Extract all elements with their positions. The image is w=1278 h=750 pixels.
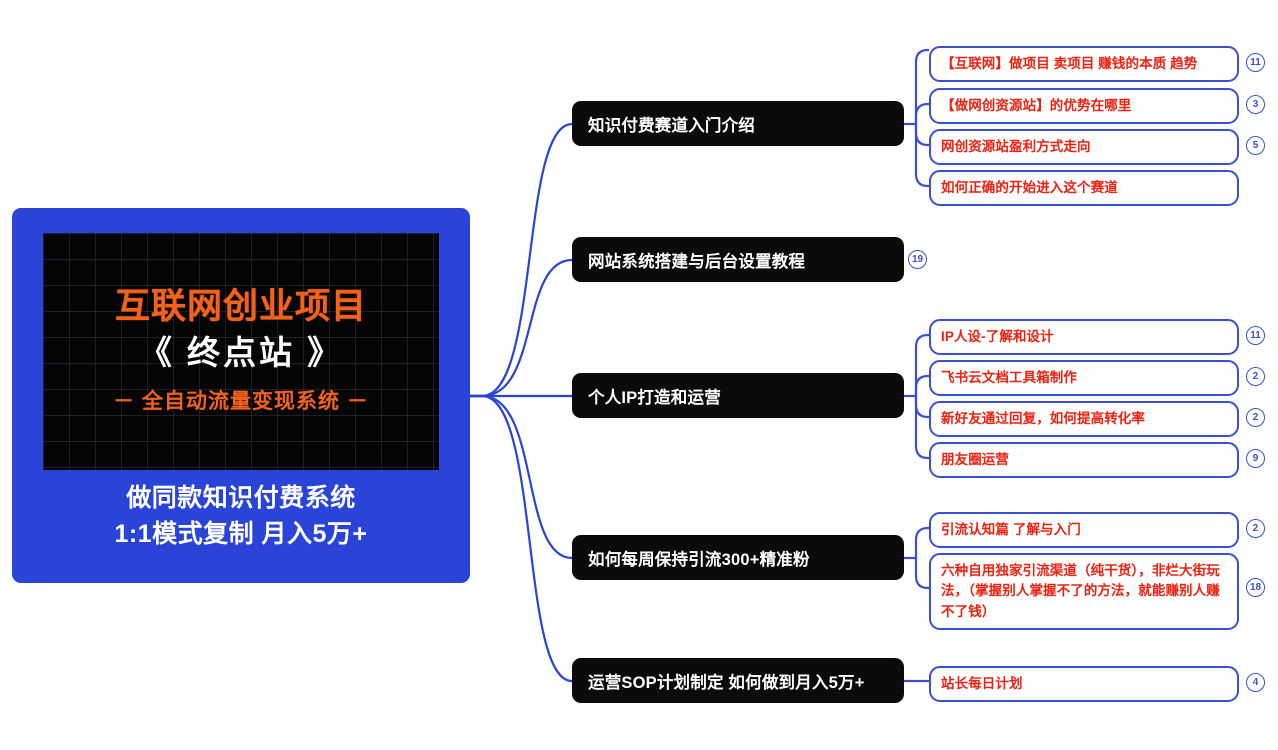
- badge-3-0: 2: [1246, 519, 1265, 538]
- poster-title-line1: 互联网创业项目: [115, 288, 367, 327]
- leaf-node-0-2[interactable]: 网创资源站盈利方式走向: [929, 129, 1239, 165]
- leaf-node-2-3[interactable]: 朋友圈运营: [929, 442, 1239, 478]
- root-subtitle: 做同款知识付费系统 1:1模式复制 月入5万+: [12, 480, 470, 553]
- leaf-node-3-0[interactable]: 引流认知篇 了解与入门: [929, 512, 1239, 548]
- badge-3-1: 18: [1246, 578, 1265, 597]
- branch-node-0[interactable]: 知识付费赛道入门介绍: [572, 101, 904, 146]
- leaf-label-0-2: 网创资源站盈利方式走向: [931, 131, 1101, 163]
- branch-label-3: 如何每周保持引流300+精准粉: [572, 546, 810, 570]
- link-b0-c2: [916, 124, 929, 145]
- leaf-label-3-0: 引流认知篇 了解与入门: [931, 514, 1091, 546]
- link-b2-c0: [916, 335, 929, 396]
- link-b0-c0: [916, 50, 929, 124]
- leaf-label-3-1: 六种自用独家引流渠道（纯干货），非烂大街玩法，（掌握别人掌握不了的方法，就能赚别…: [931, 555, 1237, 628]
- branch-node-3[interactable]: 如何每周保持引流300+精准粉: [572, 535, 904, 580]
- root-subtitle-line1: 做同款知识付费系统: [12, 480, 470, 516]
- root-node[interactable]: 互联网创业项目 《 终点站 》 － 全自动流量变现系统 － 做同款知识付费系统 …: [12, 208, 470, 583]
- poster-title-line3: － 全自动流量变现系统 －: [113, 385, 369, 415]
- link-b0-c1: [916, 104, 929, 124]
- root-poster-image: 互联网创业项目 《 终点站 》 － 全自动流量变现系统 －: [43, 233, 439, 470]
- badge-2-3: 9: [1246, 449, 1265, 468]
- link-b3-c1: [916, 558, 929, 588]
- branch-node-4[interactable]: 运营SOP计划制定 如何做到月入5万+: [572, 658, 904, 703]
- leaf-label-2-3: 朋友圈运营: [931, 444, 1019, 476]
- leaf-label-2-2: 新好友通过回复，如何提高转化率: [931, 403, 1155, 435]
- link-root-b4: [470, 396, 572, 681]
- branch-label-0: 知识付费赛道入门介绍: [572, 112, 755, 136]
- root-subtitle-line2: 1:1模式复制 月入5万+: [12, 516, 470, 552]
- badge-2-0: 11: [1246, 326, 1265, 345]
- leaf-node-0-1[interactable]: 【做网创资源站】的优势在哪里: [929, 88, 1239, 124]
- leaf-node-4-0[interactable]: 站长每日计划: [929, 666, 1239, 702]
- branch-node-2[interactable]: 个人IP打造和运营: [572, 373, 904, 418]
- leaf-node-3-1[interactable]: 六种自用独家引流渠道（纯干货），非烂大街玩法，（掌握别人掌握不了的方法，就能赚别…: [929, 553, 1239, 630]
- leaf-node-2-2[interactable]: 新好友通过回复，如何提高转化率: [929, 401, 1239, 437]
- badge-2-1: 2: [1246, 367, 1265, 386]
- leaf-label-0-3: 如何正确的开始进入这个赛道: [931, 172, 1128, 204]
- badge-4-0: 4: [1246, 673, 1265, 692]
- badge-2-2: 2: [1246, 408, 1265, 427]
- link-b2-c1: [916, 376, 929, 396]
- branch-label-2: 个人IP打造和运营: [572, 384, 721, 408]
- link-root-b1: [470, 260, 572, 396]
- leaf-node-2-0[interactable]: IP人设-了解和设计: [929, 319, 1239, 355]
- badge-0-1: 3: [1246, 95, 1265, 114]
- badge-branch-1: 19: [908, 250, 927, 269]
- poster-title-line2: 《 终点站 》: [139, 333, 343, 373]
- link-b3-c0: [916, 528, 929, 558]
- mindmap-canvas: 互联网创业项目 《 终点站 》 － 全自动流量变现系统 － 做同款知识付费系统 …: [0, 0, 1278, 750]
- badge-0-2: 5: [1246, 136, 1265, 155]
- branch-label-4: 运营SOP计划制定 如何做到月入5万+: [572, 669, 865, 693]
- link-b2-c3: [916, 396, 929, 458]
- leaf-label-0-1: 【做网创资源站】的优势在哪里: [931, 90, 1141, 122]
- link-b0-c3: [916, 124, 929, 186]
- branch-node-1[interactable]: 网站系统搭建与后台设置教程: [572, 237, 904, 282]
- leaf-node-0-0[interactable]: 【互联网】做项目 卖项目 赚钱的本质 趋势: [929, 46, 1239, 82]
- branch-label-1: 网站系统搭建与后台设置教程: [572, 248, 805, 272]
- leaf-node-2-1[interactable]: 飞书云文档工具箱制作: [929, 360, 1239, 396]
- link-b2-c2: [916, 396, 929, 417]
- leaf-label-0-0: 【互联网】做项目 卖项目 赚钱的本质 趋势: [931, 48, 1207, 80]
- badge-0-0: 11: [1246, 53, 1265, 72]
- leaf-label-2-1: 飞书云文档工具箱制作: [931, 362, 1087, 394]
- leaf-node-0-3[interactable]: 如何正确的开始进入这个赛道: [929, 170, 1239, 206]
- leaf-label-4-0: 站长每日计划: [931, 668, 1033, 700]
- leaf-label-2-0: IP人设-了解和设计: [931, 321, 1064, 353]
